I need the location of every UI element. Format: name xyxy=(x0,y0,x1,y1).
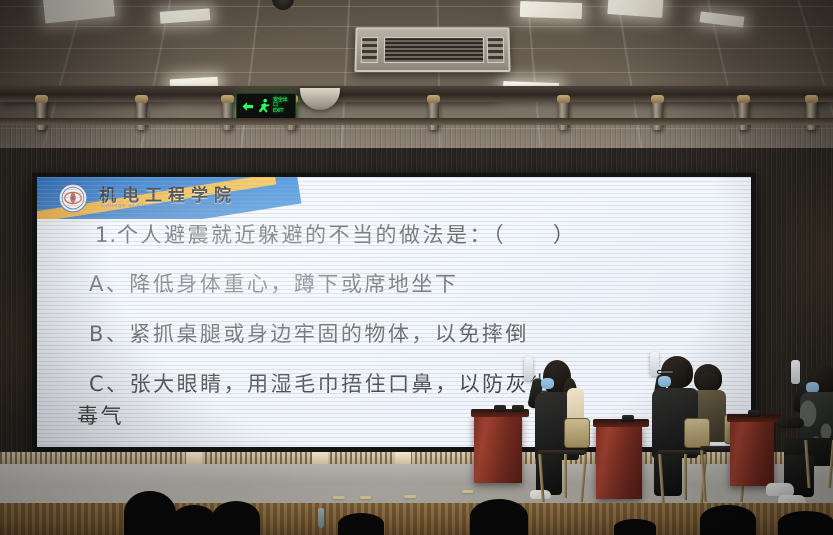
option-b-text: 紧抓桌腿或身边牢固的物体，以免摔倒 xyxy=(129,322,529,346)
wall-top-trim xyxy=(0,118,833,125)
answer-buzzer-device xyxy=(494,405,506,412)
left-arrow-icon xyxy=(240,99,255,114)
audience-head-silhouette xyxy=(124,491,176,535)
glasses-icon xyxy=(657,370,674,374)
option-c-key: C、 xyxy=(89,372,130,396)
option-c-wrap: 毒气 xyxy=(77,406,124,427)
option-a-key: A、 xyxy=(89,272,129,296)
running-person-icon xyxy=(257,98,271,115)
answer-buzzer-device xyxy=(622,415,634,422)
audience-head-silhouette xyxy=(212,501,260,535)
answer-paddle xyxy=(791,360,800,384)
water-bottle xyxy=(318,508,324,528)
audience-head-silhouette xyxy=(614,519,656,535)
question-line: 1.个人避震就近躲避的不当的做法是：（ ） xyxy=(95,225,577,246)
question-number: 1. xyxy=(95,223,117,247)
option-c-wrap-text: 毒气 xyxy=(77,404,124,428)
option-c-text: 张大眼睛，用湿毛巾捂住口鼻，以防灰尘、 xyxy=(130,372,577,396)
question-text: 个人避震就近躲避的不当的做法是：（ ） xyxy=(117,223,577,247)
slide-header-banner: 机电工程学院 College of Electromechanical Engi… xyxy=(37,177,751,219)
audience-head-silhouette xyxy=(778,511,833,535)
led-projection-screen-frame: 机电工程学院 College of Electromechanical Engi… xyxy=(32,173,756,452)
presentation-slide[interactable]: 机电工程学院 College of Electromechanical Engi… xyxy=(37,177,751,447)
answer-buzzer-device xyxy=(748,410,760,417)
option-b[interactable]: B、紧抓桌腿或身边牢固的物体，以免摔倒 xyxy=(89,324,529,345)
contestant-desk-2 xyxy=(596,425,642,499)
stage-floor-tape-mark xyxy=(360,496,371,499)
stage-floor-tape-mark xyxy=(333,496,345,499)
emergency-exit-sign: 安全出口EXIT xyxy=(236,93,296,119)
face-mask xyxy=(658,376,671,387)
option-a-text: 降低身体重心，蹲下或席地坐下 xyxy=(129,272,458,296)
lower-arm xyxy=(776,418,804,428)
audience-head-silhouette xyxy=(470,499,528,535)
banner-title-en: College of Electromechanical Engineering xyxy=(101,203,239,209)
ceiling-support-beam xyxy=(0,86,833,102)
answer-paddle xyxy=(524,357,533,381)
stage-floor-tape-mark xyxy=(462,490,473,493)
stage-floor-tape-mark xyxy=(404,495,416,498)
exit-sign-label: 安全出口EXIT xyxy=(273,98,292,115)
answer-buzzer-device xyxy=(512,405,524,412)
audience-head-silhouette xyxy=(700,505,756,535)
contestant-desk-1 xyxy=(474,415,522,483)
university-seal-emblem-icon xyxy=(58,183,88,213)
face-mask xyxy=(541,378,554,389)
auditorium-scene: 安全出口EXIT 机电工程学院 College of Electromechan xyxy=(0,0,833,535)
option-b-key: B、 xyxy=(89,322,129,346)
option-c[interactable]: C、张大眼睛，用湿毛巾捂住口鼻，以防灰尘、 xyxy=(89,374,576,395)
option-a[interactable]: A、降低身体重心，蹲下或席地坐下 xyxy=(89,274,458,295)
audience-head-silhouette xyxy=(338,513,384,535)
contestant-desk-3 xyxy=(730,420,774,486)
stage-baseboard-trim xyxy=(0,452,833,464)
audience-head-silhouette xyxy=(172,505,216,535)
